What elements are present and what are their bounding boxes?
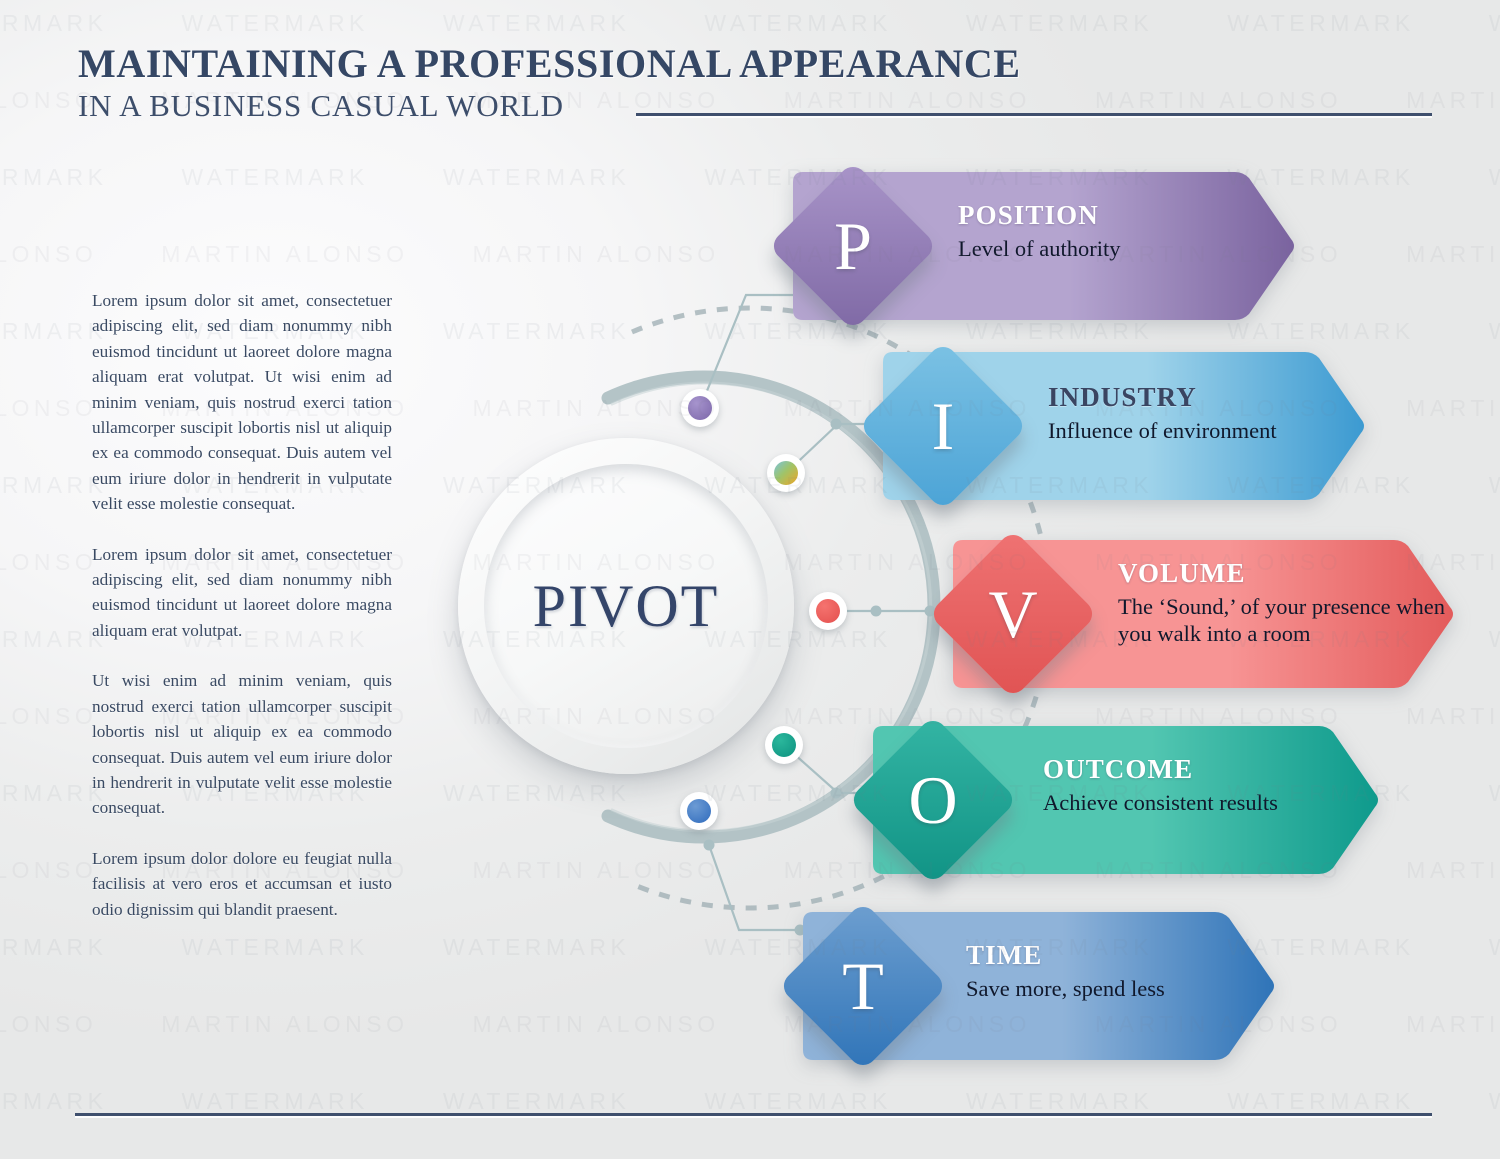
node-dot-position: [688, 396, 712, 420]
banner-subtitle: Level of authority: [958, 235, 1120, 262]
body-paragraph: Ut wisi enim ad minim veniam, quis nostr…: [92, 668, 392, 820]
banner-title: POSITION: [958, 200, 1120, 231]
banner-outcome[interactable]: OOUTCOMEAchieve consistent results: [873, 726, 1381, 874]
banner-diamond: T: [803, 926, 923, 1046]
banner-title: OUTCOME: [1043, 754, 1278, 785]
banner-letter: O: [873, 740, 993, 860]
banner-diamond: O: [873, 740, 993, 860]
pivot-hub-inner: PIVOT: [484, 464, 768, 748]
banner-industry[interactable]: IINDUSTRYInfluence of environment: [883, 352, 1367, 500]
banner-text: INDUSTRYInfluence of environment: [1048, 382, 1277, 444]
banner-subtitle: Achieve consistent results: [1043, 789, 1278, 816]
pivot-label: PIVOT: [533, 572, 720, 641]
banner-subtitle: Save more, spend less: [966, 975, 1165, 1002]
banner-letter: I: [883, 366, 1003, 486]
banner-text: POSITIONLevel of authority: [958, 200, 1120, 262]
banner-letter: T: [803, 926, 923, 1046]
banner-subtitle: Influence of environment: [1048, 417, 1277, 444]
banner-title: VOLUME: [1118, 558, 1448, 589]
banner-letter: V: [953, 554, 1073, 674]
page-title-line-2: IN A BUSINESS CASUAL WORLD: [78, 88, 564, 124]
banner-text: TIMESave more, spend less: [966, 940, 1165, 1002]
title-rule: [636, 113, 1432, 116]
page-title-line-1: MAINTAINING A PROFESSIONAL APPEARANCE: [78, 40, 1021, 87]
banner-letter: P: [793, 186, 913, 306]
node-dot-time: [687, 799, 711, 823]
node-position[interactable]: [681, 389, 719, 427]
connector-time: [704, 840, 806, 936]
node-dot-volume: [816, 599, 840, 623]
body-paragraph: Lorem ipsum dolor dolore eu feugiat null…: [92, 846, 392, 922]
body-paragraph: Lorem ipsum dolor sit amet, consectetuer…: [92, 288, 392, 517]
banner-title: INDUSTRY: [1048, 382, 1277, 413]
node-time[interactable]: [680, 792, 718, 830]
node-industry[interactable]: [767, 454, 805, 492]
pivot-hub: PIVOT: [458, 438, 794, 774]
banner-diamond: V: [953, 554, 1073, 674]
node-dot-industry: [774, 461, 798, 485]
banner-text: OUTCOMEAchieve consistent results: [1043, 754, 1278, 816]
banner-diamond: I: [883, 366, 1003, 486]
banner-diamond: P: [793, 186, 913, 306]
banner-volume[interactable]: VVOLUMEThe ‘Sound,’ of your presence whe…: [953, 540, 1456, 688]
banner-text: VOLUMEThe ‘Sound,’ of your presence when…: [1118, 558, 1448, 647]
banner-title: TIME: [966, 940, 1165, 971]
body-paragraph: Lorem ipsum dolor sit amet, consectetuer…: [92, 542, 392, 644]
node-outcome[interactable]: [765, 726, 803, 764]
body-copy: Lorem ipsum dolor sit amet, consectetuer…: [92, 288, 392, 922]
banner-position[interactable]: PPOSITIONLevel of authority: [793, 172, 1297, 320]
banner-time[interactable]: TTIMESave more, spend less: [803, 912, 1277, 1060]
footer-rule: [75, 1113, 1432, 1116]
node-dot-outcome: [772, 733, 796, 757]
node-volume[interactable]: [809, 592, 847, 630]
banner-subtitle: The ‘Sound,’ of your presence when you w…: [1118, 593, 1448, 647]
